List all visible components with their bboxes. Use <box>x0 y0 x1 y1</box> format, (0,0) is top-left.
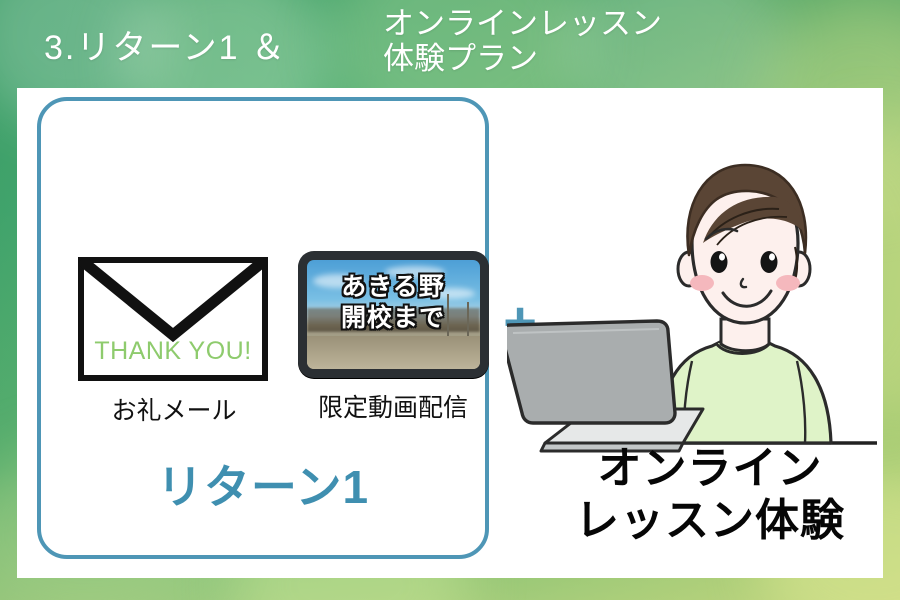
header-title-left: 3.リターン1 ＆ <box>44 20 287 69</box>
online-lesson-label-line1: オンライン <box>537 443 883 495</box>
envelope-thank-you-text: THANK YOU! <box>84 337 262 366</box>
header-title-right: オンラインレッスン 体験プラン <box>383 6 662 76</box>
online-lesson-label-line2: レッスン体験 <box>537 495 883 547</box>
tablet-text-line1: あきる野 <box>307 272 480 303</box>
tablet-text-line2: 開校まで <box>307 303 480 334</box>
content-card: THANK YOU! お礼メール あきる野 <box>17 88 883 578</box>
ground-area <box>307 336 480 369</box>
tablet-screen: あきる野 開校まで <box>307 260 480 369</box>
slide-canvas: 3.リターン1 ＆ オンラインレッスン 体験プラン THANK YOU! お礼メ… <box>0 0 900 600</box>
return-1-box: THANK YOU! お礼メール あきる野 <box>37 97 489 559</box>
tablet-caption: 限定動画配信 <box>293 388 493 424</box>
envelope-caption: お礼メール <box>78 391 270 427</box>
online-lesson-label: オンライン レッスン体験 <box>537 443 883 547</box>
return-1-label: リターン1 <box>41 451 485 517</box>
header-title-right-line2: 体験プラン <box>383 41 662 76</box>
envelope-icon: THANK YOU! <box>78 257 268 381</box>
thank-you-mail-item: THANK YOU! お礼メール <box>78 257 270 427</box>
tablet-screen-text: あきる野 開校まで <box>307 272 480 334</box>
tablet-video-icon: あきる野 開校まで <box>298 251 489 378</box>
slide-header: 3.リターン1 ＆ オンラインレッスン 体験プラン <box>0 0 900 88</box>
limited-video-item: あきる野 開校まで 限定動画配信 <box>293 251 493 424</box>
boy-at-laptop-illustration <box>507 143 877 473</box>
header-title-right-line1: オンラインレッスン <box>383 6 662 41</box>
